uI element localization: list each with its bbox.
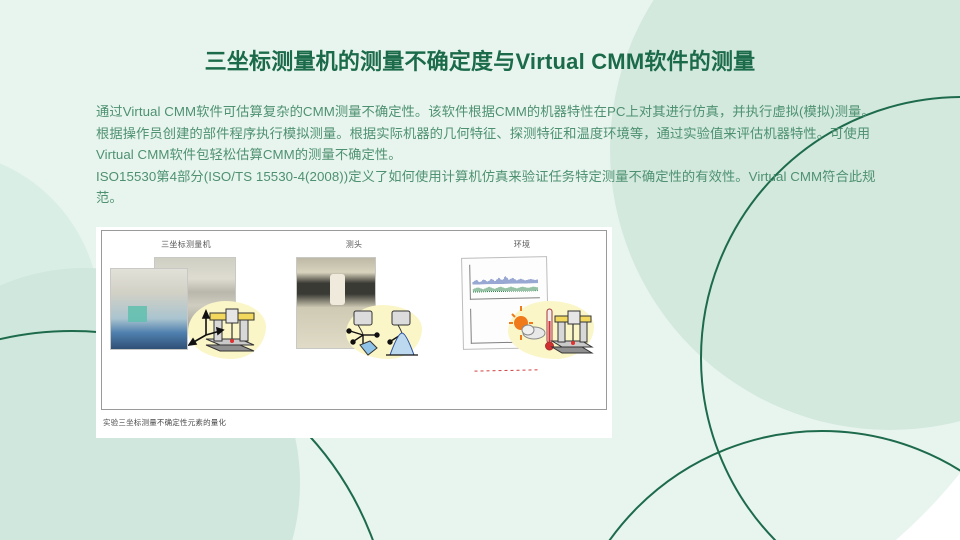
slide-canvas: 三坐标测量机的测量不确定度与Virtual CMM软件的测量 通过Virtual…	[0, 0, 960, 540]
chart-trace-red	[474, 369, 540, 371]
panel-art-probe-head	[270, 255, 438, 405]
environment-schematic-sticker	[508, 301, 594, 359]
cmm-schematic-sticker	[188, 301, 266, 359]
figure-caption: 实验三坐标测量不确定性元素的量化	[103, 417, 226, 428]
panel-label-cmm-machine: 三坐标测量机	[102, 239, 270, 250]
probe-schematic-icon	[346, 305, 422, 359]
body-paragraph-2: ISO15530第4部分(ISO/TS 15530-4(2008))定义了如何使…	[96, 166, 886, 209]
probe-schematic-sticker	[346, 305, 422, 359]
figure-panels: 三坐标测量机	[102, 231, 606, 409]
panel-art-cmm-machine	[102, 255, 270, 405]
figure-panel-environment: 环境	[438, 231, 606, 409]
panel-label-environment: 环境	[438, 239, 606, 250]
background-circle-left-small	[0, 150, 100, 480]
environment-chart-upper	[469, 263, 540, 299]
body-paragraph-1: 通过Virtual CMM软件可估算复杂的CMM测量不确定性。该软件根据CMM的…	[96, 101, 886, 166]
cloud-icon	[522, 325, 545, 339]
cmm-outline-icon	[552, 311, 592, 353]
figure-panel-probe-head: 测头	[270, 231, 438, 409]
chart-trace-green	[473, 283, 539, 292]
cmm-schematic-icon	[188, 301, 266, 359]
background-ring-bottom-right	[560, 430, 960, 540]
chart-trace-blue	[472, 275, 538, 284]
panel-art-environment	[438, 255, 606, 405]
figure-frame: 三坐标测量机	[101, 230, 607, 410]
panel-label-probe-head: 测头	[270, 239, 438, 250]
environment-schematic-icon	[508, 301, 594, 359]
cmm-photo-foreground	[110, 268, 188, 350]
thermometer-icon	[546, 309, 554, 350]
figure-panel-cmm-machine: 三坐标测量机	[102, 231, 270, 409]
slide-title: 三坐标测量机的测量不确定度与Virtual CMM软件的测量	[0, 44, 960, 76]
slide-body: 通过Virtual CMM软件可估算复杂的CMM测量不确定性。该软件根据CMM的…	[96, 101, 886, 209]
figure-card: 三坐标测量机	[96, 227, 612, 438]
